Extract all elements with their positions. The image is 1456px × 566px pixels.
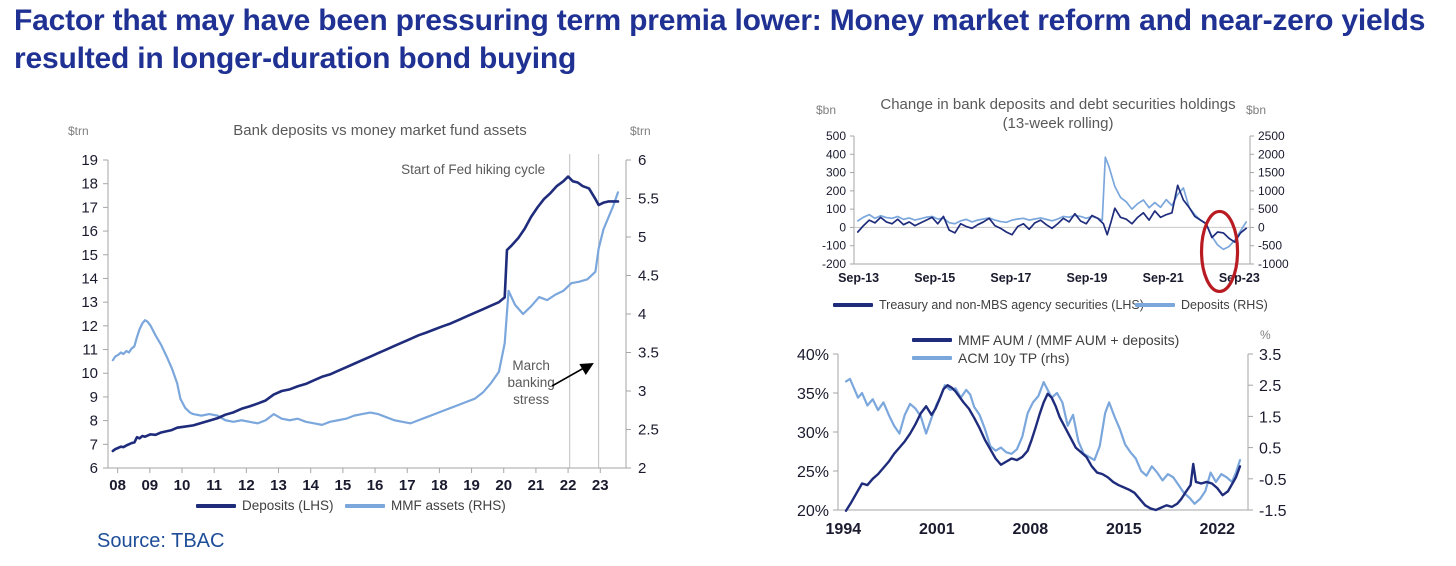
svg-text:4: 4 — [638, 306, 646, 323]
chart-change-in-bank-deposits: Change in bank deposits and debt securit… — [808, 96, 1298, 296]
svg-text:Sep-15: Sep-15 — [914, 271, 955, 285]
slide-root: Factor that may have been pressuring ter… — [0, 0, 1456, 566]
svg-text:2.5: 2.5 — [1259, 378, 1281, 395]
svg-text:1500: 1500 — [1258, 166, 1285, 180]
chart-br-legend-acm-tp: ACM 10y TP (rhs) — [912, 350, 1070, 366]
chart-left-legend-deposits: Deposits (LHS) — [196, 498, 334, 513]
svg-text:Sep-13: Sep-13 — [838, 271, 879, 285]
chart-left-legend-mmf: MMF assets (RHS) — [345, 498, 506, 513]
svg-text:13: 13 — [81, 294, 98, 311]
legend-swatch-mmf-assets — [345, 504, 385, 508]
svg-text:1.5: 1.5 — [1259, 409, 1281, 426]
svg-text:stress: stress — [513, 392, 549, 407]
svg-text:2000: 2000 — [1258, 147, 1285, 161]
svg-text:2015: 2015 — [1106, 521, 1142, 538]
svg-text:20%: 20% — [797, 503, 829, 520]
svg-text:-1.5: -1.5 — [1259, 503, 1287, 520]
svg-text:3.5: 3.5 — [1259, 347, 1281, 364]
svg-text:Sep-23: Sep-23 — [1219, 271, 1260, 285]
svg-text:22: 22 — [560, 477, 577, 494]
svg-text:-500: -500 — [1258, 239, 1282, 253]
svg-text:500: 500 — [826, 129, 846, 143]
legend-swatch-deposits-rhs — [1135, 303, 1175, 307]
svg-text:14: 14 — [302, 477, 319, 494]
svg-text:8: 8 — [90, 413, 98, 430]
svg-text:09: 09 — [141, 477, 158, 494]
svg-text:16: 16 — [367, 477, 384, 494]
chart-tr-y2-axis-unit: $bn — [1246, 103, 1266, 117]
svg-text:100: 100 — [826, 202, 846, 216]
svg-text:4.5: 4.5 — [638, 268, 659, 285]
svg-text:12: 12 — [81, 318, 98, 335]
legend-swatch-acm-tp — [912, 356, 952, 360]
chart-tr-y-axis-unit: $bn — [816, 103, 836, 117]
legend-label-deposits: Deposits (LHS) — [242, 498, 334, 513]
legend-swatch-mmf-share — [912, 338, 952, 342]
svg-text:14: 14 — [81, 270, 98, 287]
svg-text:3: 3 — [638, 383, 646, 400]
svg-text:16: 16 — [81, 223, 98, 240]
svg-text:200: 200 — [826, 184, 846, 198]
svg-text:17: 17 — [399, 477, 416, 494]
svg-text:10: 10 — [174, 477, 191, 494]
svg-text:500: 500 — [1258, 202, 1278, 216]
svg-text:2500: 2500 — [1258, 129, 1285, 143]
chart-tr-legend-treasury: Treasury and non-MBS agency securities (… — [833, 298, 1144, 312]
svg-text:5: 5 — [638, 229, 646, 246]
svg-text:2008: 2008 — [1013, 521, 1049, 538]
svg-text:0: 0 — [839, 220, 846, 234]
svg-text:11: 11 — [82, 342, 98, 359]
svg-text:13: 13 — [270, 477, 287, 494]
svg-text:19: 19 — [463, 477, 480, 494]
svg-text:5.5: 5.5 — [638, 191, 659, 208]
svg-text:Sep-17: Sep-17 — [990, 271, 1031, 285]
svg-text:23: 23 — [592, 477, 609, 494]
svg-text:6: 6 — [90, 460, 98, 477]
svg-text:300: 300 — [826, 166, 846, 180]
svg-text:15: 15 — [335, 477, 352, 494]
svg-text:40%: 40% — [797, 347, 829, 364]
svg-text:-100: -100 — [822, 239, 846, 253]
svg-text:1000: 1000 — [1258, 184, 1285, 198]
svg-text:25%: 25% — [797, 464, 829, 481]
svg-text:12: 12 — [238, 477, 255, 494]
legend-label-deposits-rhs: Deposits (RHS) — [1181, 298, 1268, 312]
svg-text:2: 2 — [638, 460, 646, 477]
svg-text:17: 17 — [81, 199, 98, 216]
svg-text:Sep-21: Sep-21 — [1143, 271, 1184, 285]
chart-left-y2-axis-unit: $trn — [630, 124, 651, 138]
legend-swatch-deposits — [196, 504, 236, 508]
page-title: Factor that may have been pressuring ter… — [14, 2, 1454, 79]
svg-text:0.5: 0.5 — [1259, 441, 1281, 458]
svg-text:10: 10 — [81, 365, 98, 382]
legend-label-treasury-securities: Treasury and non-MBS agency securities (… — [879, 298, 1144, 312]
svg-text:9: 9 — [90, 389, 98, 406]
chart-br-y2-axis-unit: % — [1260, 328, 1271, 342]
svg-text:6: 6 — [638, 152, 646, 169]
svg-text:2022: 2022 — [1199, 521, 1235, 538]
svg-text:-0.5: -0.5 — [1259, 472, 1287, 489]
legend-label-mmf-share: MMF AUM / (MMF AUM + deposits) — [958, 332, 1179, 348]
chart-left-title: Bank deposits vs money market fund asset… — [180, 122, 580, 141]
legend-label-acm-tp: ACM 10y TP (rhs) — [958, 350, 1070, 366]
legend-swatch-treasury-securities — [833, 303, 873, 307]
chart-left-plot: 19181716151413121110987665.554.543.532.5… — [60, 112, 700, 532]
svg-text:2.5: 2.5 — [638, 422, 659, 439]
chart-tr-title: Change in bank deposits and debt securit… — [868, 96, 1248, 134]
svg-text:21: 21 — [528, 477, 545, 494]
legend-label-mmf-assets: MMF assets (RHS) — [391, 498, 506, 513]
svg-text:35%: 35% — [797, 386, 829, 403]
svg-text:7: 7 — [90, 436, 98, 453]
svg-text:15: 15 — [81, 247, 98, 264]
svg-text:banking: banking — [507, 375, 554, 390]
svg-text:-1000: -1000 — [1258, 257, 1289, 271]
chart-br-legend-mmf-share: MMF AUM / (MMF AUM + deposits) — [912, 332, 1179, 348]
chart-left-y-axis-unit: $trn — [68, 124, 89, 138]
svg-text:18: 18 — [431, 477, 448, 494]
svg-text:19: 19 — [81, 152, 98, 169]
svg-text:3.5: 3.5 — [638, 345, 659, 362]
svg-text:30%: 30% — [797, 425, 829, 442]
svg-text:2001: 2001 — [919, 521, 955, 538]
chart-tr-legend-deposits: Deposits (RHS) — [1135, 298, 1268, 312]
svg-text:Sep-19: Sep-19 — [1067, 271, 1108, 285]
svg-text:08: 08 — [109, 477, 126, 494]
svg-text:11: 11 — [206, 477, 222, 494]
svg-text:-200: -200 — [822, 257, 846, 271]
svg-text:March: March — [512, 358, 550, 373]
svg-text:20: 20 — [495, 477, 512, 494]
chart-bank-deposits-vs-mmf: Bank deposits vs money market fund asset… — [60, 112, 700, 532]
svg-text:Start of Fed hiking cycle: Start of Fed hiking cycle — [401, 162, 545, 177]
svg-text:400: 400 — [826, 147, 846, 161]
svg-text:1994: 1994 — [826, 521, 862, 538]
source-note: Source: TBAC — [97, 530, 224, 553]
svg-text:0: 0 — [1258, 220, 1265, 234]
svg-text:18: 18 — [81, 176, 98, 193]
